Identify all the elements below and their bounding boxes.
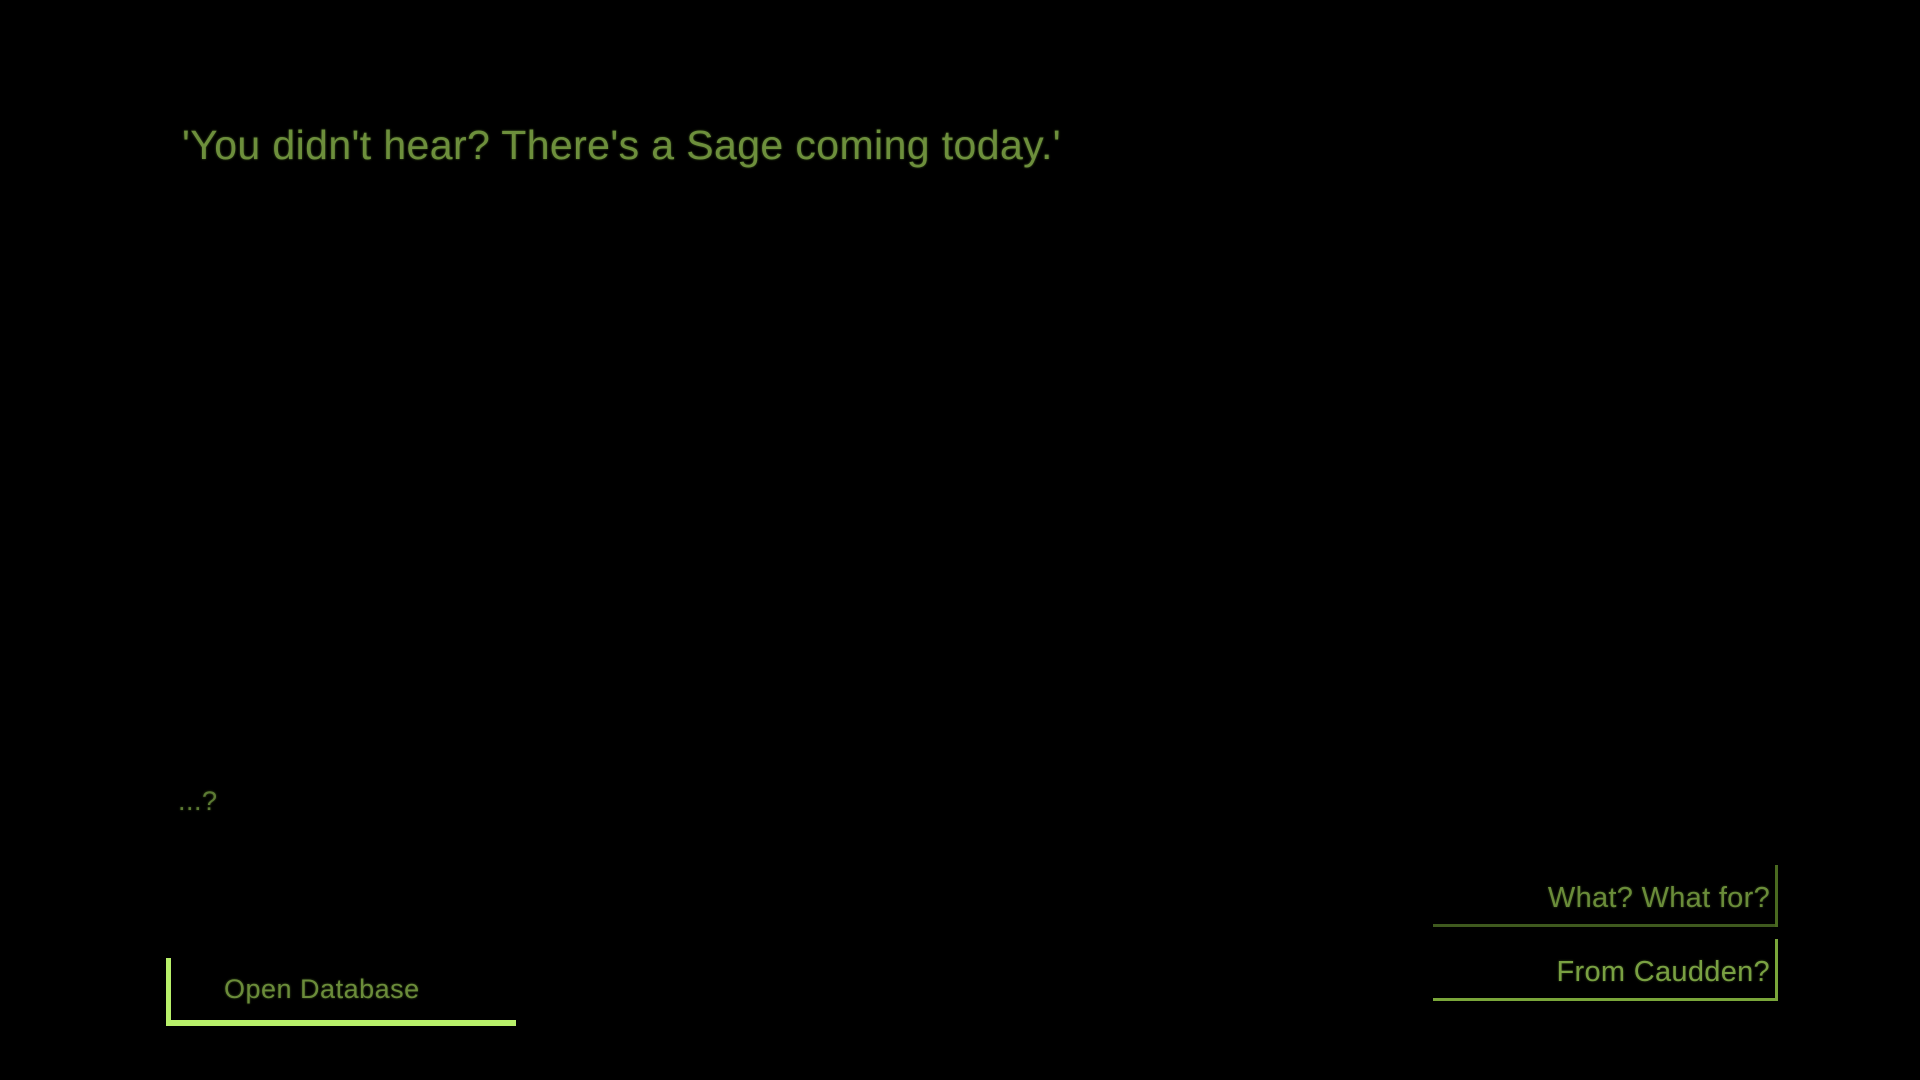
dialogue-choice-1-underline bbox=[1433, 998, 1778, 1001]
dialogue-choice-1-label: From Caudden? bbox=[1557, 956, 1770, 989]
narration-text: 'You didn't hear? There's a Sage coming … bbox=[182, 125, 1061, 166]
dialogue-choice-0-label: What? What for? bbox=[1548, 882, 1770, 915]
game-screen: 'You didn't hear? There's a Sage coming … bbox=[0, 0, 1920, 1080]
open-database-button[interactable]: Open Database bbox=[166, 958, 516, 1026]
dialogue-choice-list: What? What for? From Caudden? bbox=[1433, 862, 1778, 1010]
inner-thought-text: ...? bbox=[178, 788, 218, 815]
dialogue-choice-1-edge bbox=[1775, 939, 1778, 1001]
open-database-button-label: Open Database bbox=[224, 974, 420, 1005]
dialogue-choice-1[interactable]: From Caudden? bbox=[1433, 936, 1778, 1010]
dialogue-choice-0-underline bbox=[1433, 924, 1778, 927]
dialogue-choice-0[interactable]: What? What for? bbox=[1433, 862, 1778, 936]
dialogue-choice-0-edge bbox=[1775, 865, 1778, 927]
